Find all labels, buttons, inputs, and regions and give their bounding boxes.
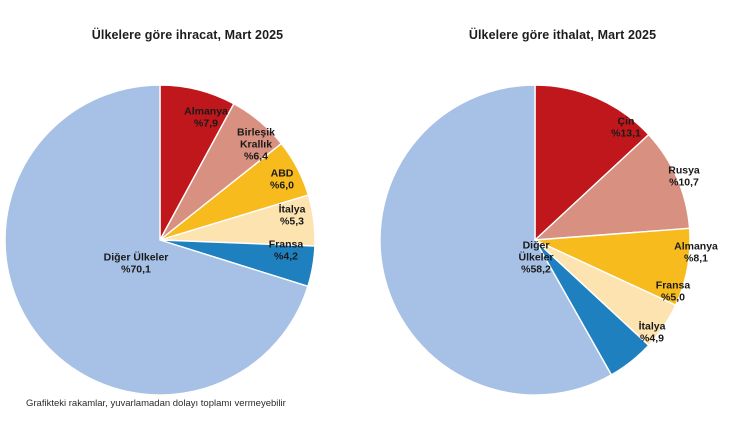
chart-page: Ülkelere göre ihracat, Mart 2025 Ülkeler… — [0, 0, 750, 422]
pie-chart-exports — [0, 75, 375, 390]
pie-exports-svg — [0, 75, 375, 390]
chart-footnote: Grafikteki rakamlar, yuvarlamadan dolayı… — [26, 398, 286, 409]
pie-imports-svg — [375, 75, 750, 390]
chart-title-exports: Ülkelere göre ihracat, Mart 2025 — [0, 28, 375, 42]
pie-chart-imports — [375, 75, 750, 390]
chart-title-imports: Ülkelere göre ithalat, Mart 2025 — [375, 28, 750, 42]
